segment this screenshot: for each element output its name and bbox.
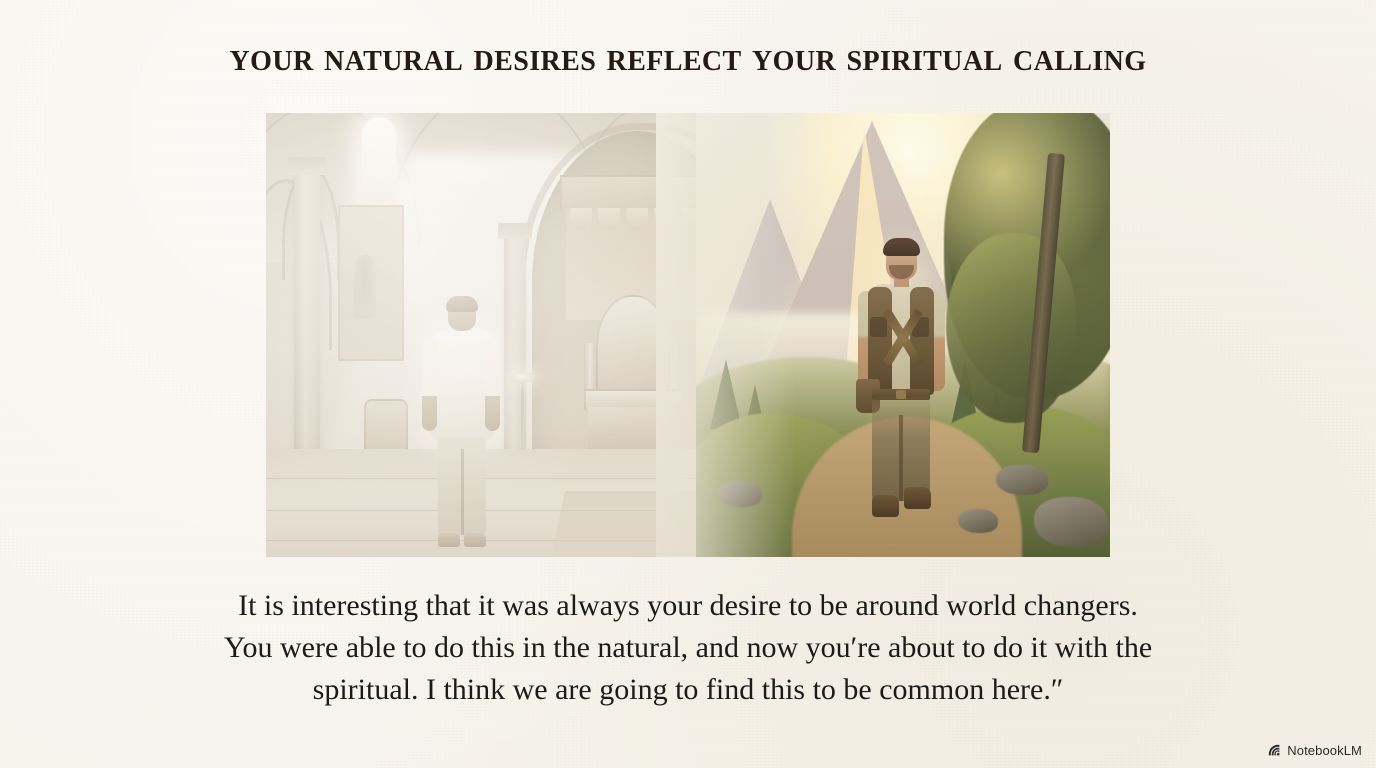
scene-blend-seam: [656, 113, 796, 557]
rock: [996, 465, 1048, 495]
adventurer-figure: [842, 239, 960, 541]
tree-canopy-lower: [946, 233, 1076, 423]
caption-line-2: You were able to do this in the natural,…: [138, 627, 1238, 669]
illustration: [266, 113, 1110, 557]
adventurer-leg-seam: [899, 415, 903, 501]
rock: [1034, 497, 1108, 547]
illustration-canvas: [266, 113, 1110, 557]
adventurer-boot-left: [872, 495, 899, 517]
rock: [958, 509, 998, 533]
caption-line-1: It is interesting that it was always you…: [138, 585, 1238, 627]
notebooklm-arc-icon: [1267, 743, 1282, 758]
page-title: Your Natural Desires Reflect Your Spirit…: [0, 31, 1376, 83]
adventurer-cross-straps: [876, 289, 928, 385]
slide: Your Natural Desires Reflect Your Spirit…: [0, 0, 1376, 768]
caption-text: It is interesting that it was always you…: [138, 585, 1238, 711]
notebooklm-label: NotebookLM: [1287, 743, 1362, 758]
caption-line-3: spiritual. I think we are going to find …: [138, 669, 1238, 711]
adventurer-boot-right: [904, 487, 931, 509]
adventurer-hair: [883, 238, 920, 256]
notebooklm-watermark: NotebookLM: [1267, 743, 1362, 758]
